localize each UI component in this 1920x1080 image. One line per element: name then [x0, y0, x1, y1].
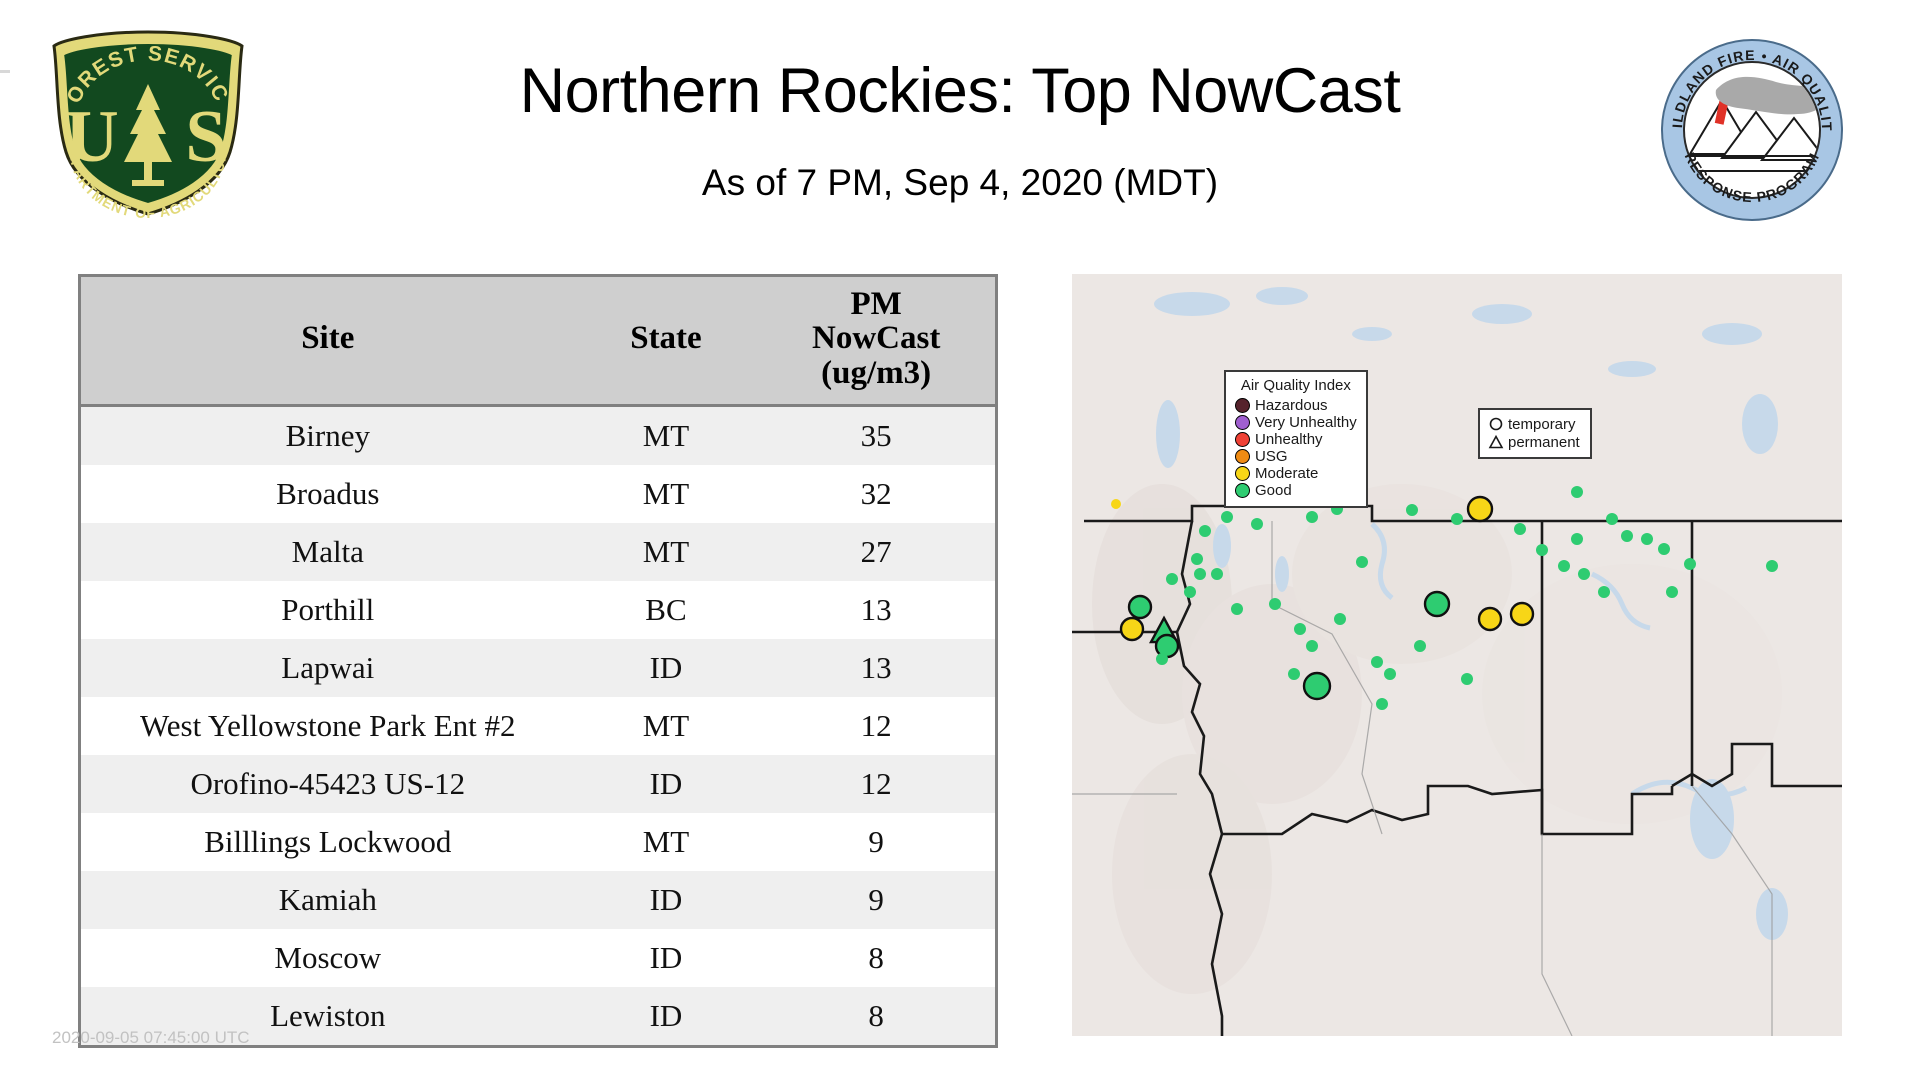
- aqi-swatch-icon: [1235, 466, 1250, 481]
- table-cell-site: Birney: [81, 405, 575, 465]
- map-marker-temporary[interactable]: [1536, 544, 1548, 556]
- column-header-pm-line-2: NowCast: [761, 321, 991, 355]
- table-body: BirneyMT35BroadusMT32MaltaMT27PorthillBC…: [81, 405, 995, 1045]
- station-type-legend: temporary permanent: [1478, 408, 1592, 459]
- map-marker-temporary[interactable]: [1199, 525, 1211, 537]
- aqi-legend-title: Air Quality Index: [1235, 377, 1357, 394]
- map-marker-temporary[interactable]: [1666, 586, 1678, 598]
- table-row[interactable]: KamiahID9: [81, 871, 995, 929]
- map-marker-temporary[interactable]: [1641, 533, 1653, 545]
- map-marker-temporary[interactable]: [1288, 668, 1300, 680]
- table-cell-site: Porthill: [81, 581, 575, 639]
- aqi-legend-label: Unhealthy: [1255, 432, 1323, 447]
- table-row[interactable]: Billlings LockwoodMT9: [81, 813, 995, 871]
- table-cell-state: ID: [575, 871, 758, 929]
- map-marker-temporary[interactable]: [1194, 568, 1206, 580]
- aqi-legend-label: Good: [1255, 483, 1292, 498]
- table-cell-state: MT: [575, 697, 758, 755]
- table-cell-pm-nowcast: 27: [757, 523, 995, 581]
- table-header: Site State PM NowCast (ug/m3): [81, 277, 995, 405]
- map-marker-temporary[interactable]: [1306, 511, 1318, 523]
- station-legend-row-temporary: temporary: [1488, 415, 1580, 433]
- top-nowcast-table: Site State PM NowCast (ug/m3) BirneyMT35…: [81, 277, 995, 1045]
- table-row[interactable]: PorthillBC13: [81, 581, 995, 639]
- table-cell-state: MT: [575, 405, 758, 465]
- table-cell-site: Lapwai: [81, 639, 575, 697]
- map-marker-temporary[interactable]: [1156, 653, 1168, 665]
- map-marker-temporary[interactable]: [1571, 533, 1583, 545]
- map-marker-temporary[interactable]: [1571, 486, 1583, 498]
- map-marker-temporary[interactable]: [1334, 613, 1346, 625]
- column-header-state[interactable]: State: [575, 277, 758, 405]
- map-marker-temporary[interactable]: [1451, 513, 1463, 525]
- table-cell-state: ID: [575, 755, 758, 813]
- station-legend-label-temporary: temporary: [1508, 417, 1576, 432]
- table-cell-state: MT: [575, 465, 758, 523]
- map-marker-temporary[interactable]: [1598, 586, 1610, 598]
- table-cell-site: Kamiah: [81, 871, 575, 929]
- column-header-site[interactable]: Site: [81, 277, 575, 405]
- table-cell-pm-nowcast: 35: [757, 405, 995, 465]
- map-marker-temporary[interactable]: [1306, 640, 1318, 652]
- aqi-legend-row: Hazardous: [1235, 397, 1357, 414]
- table-header-row: Site State PM NowCast (ug/m3): [81, 277, 995, 405]
- aqi-legend-row: Very Unhealthy: [1235, 414, 1357, 431]
- map-marker-temporary[interactable]: [1578, 568, 1590, 580]
- column-header-pm-line-1: PM: [761, 287, 991, 321]
- table-cell-site: Orofino-45423 US-12: [81, 755, 575, 813]
- map-marker-temporary[interactable]: [1684, 558, 1696, 570]
- map-marker-temporary[interactable]: [1384, 668, 1396, 680]
- wfaqrp-program-logo: WILDLAND FIRE • AIR QUALITY RESPONSE PRO…: [1660, 38, 1844, 222]
- footer-timestamp-note: 2020-09-05 07:45:00 UTC: [52, 1028, 250, 1048]
- map-marker-temporary[interactable]: [1221, 511, 1233, 523]
- aqi-legend-row: USG: [1235, 448, 1357, 465]
- map-canvas: [1072, 274, 1842, 1036]
- map-marker-temporary[interactable]: [1166, 573, 1178, 585]
- edge-artifact: [0, 70, 10, 73]
- aqi-swatch-icon: [1235, 432, 1250, 447]
- table-cell-pm-nowcast: 32: [757, 465, 995, 523]
- forest-service-shield-icon: FOREST SERVICE U S DEPARTMENT OF AGRICUL…: [48, 28, 248, 218]
- table-cell-pm-nowcast: 8: [757, 929, 995, 987]
- column-header-pm-line-3: (ug/m3): [761, 356, 991, 390]
- table-cell-state: MT: [575, 523, 758, 581]
- map-marker-temporary[interactable]: [1294, 623, 1306, 635]
- map-marker-temporary[interactable]: [1121, 618, 1143, 640]
- table-cell-state: MT: [575, 813, 758, 871]
- table-cell-state: ID: [575, 929, 758, 987]
- table-row[interactable]: Orofino-45423 US-12ID12: [81, 755, 995, 813]
- table-cell-pm-nowcast: 9: [757, 871, 995, 929]
- map-marker-temporary[interactable]: [1658, 543, 1670, 555]
- aqi-legend-row: Good: [1235, 482, 1357, 499]
- map-marker-temporary[interactable]: [1211, 568, 1223, 580]
- column-header-pm-nowcast[interactable]: PM NowCast (ug/m3): [757, 277, 995, 405]
- table-cell-site: Billlings Lockwood: [81, 813, 575, 871]
- table-row[interactable]: BroadusMT32: [81, 465, 995, 523]
- table-cell-pm-nowcast: 9: [757, 813, 995, 871]
- table-cell-state: BC: [575, 581, 758, 639]
- table-row[interactable]: BirneyMT35: [81, 405, 995, 465]
- permanent-station-triangle-icon: [1488, 434, 1504, 450]
- map-marker-temporary[interactable]: [1766, 560, 1778, 572]
- station-legend-row-permanent: permanent: [1488, 433, 1580, 451]
- table-cell-pm-nowcast: 13: [757, 581, 995, 639]
- map-marker-temporary[interactable]: [1621, 530, 1633, 542]
- table-cell-pm-nowcast: 13: [757, 639, 995, 697]
- map-marker-temporary[interactable]: [1111, 499, 1121, 509]
- page-title: Northern Rockies: Top NowCast: [260, 58, 1660, 124]
- map-marker-temporary[interactable]: [1251, 518, 1263, 530]
- aqi-legend-items: HazardousVery UnhealthyUnhealthyUSGModer…: [1235, 397, 1357, 499]
- temporary-station-circle-icon: [1488, 416, 1504, 432]
- table-row[interactable]: LapwaiID13: [81, 639, 995, 697]
- top-nowcast-table-container: Site State PM NowCast (ug/m3) BirneyMT35…: [78, 274, 998, 1048]
- table-cell-pm-nowcast: 12: [757, 755, 995, 813]
- aqi-swatch-icon: [1235, 415, 1250, 430]
- page-header: FOREST SERVICE U S DEPARTMENT OF AGRICUL…: [0, 0, 1920, 255]
- table-cell-site: Broadus: [81, 465, 575, 523]
- table-row[interactable]: West Yellowstone Park Ent #2MT12: [81, 697, 995, 755]
- table-cell-state: ID: [575, 639, 758, 697]
- aqi-legend-label: Moderate: [1255, 466, 1318, 481]
- air-quality-monitor-map[interactable]: Air Quality Index HazardousVery Unhealth…: [1072, 274, 1842, 1036]
- aqi-legend-label: USG: [1255, 449, 1288, 464]
- map-marker-temporary[interactable]: [1129, 596, 1151, 618]
- aqi-legend-row: Moderate: [1235, 465, 1357, 482]
- map-marker-temporary[interactable]: [1514, 523, 1526, 535]
- map-marker-temporary[interactable]: [1304, 673, 1330, 699]
- map-marker-temporary[interactable]: [1511, 603, 1533, 625]
- aqi-swatch-icon: [1235, 483, 1250, 498]
- map-marker-temporary[interactable]: [1184, 586, 1196, 598]
- map-marker-temporary[interactable]: [1558, 560, 1570, 572]
- map-marker-temporary[interactable]: [1479, 608, 1501, 630]
- map-marker-temporary[interactable]: [1371, 656, 1383, 668]
- table-row[interactable]: MoscowID8: [81, 929, 995, 987]
- wildland-fire-air-quality-circle-icon: WILDLAND FIRE • AIR QUALITY RESPONSE PRO…: [1660, 38, 1844, 222]
- aqi-legend-label: Hazardous: [1255, 398, 1328, 413]
- table-cell-pm-nowcast: 8: [757, 987, 995, 1045]
- map-marker-temporary[interactable]: [1461, 673, 1473, 685]
- usda-forest-service-shield-logo: FOREST SERVICE U S DEPARTMENT OF AGRICUL…: [48, 28, 248, 218]
- aqi-legend-row: Unhealthy: [1235, 431, 1357, 448]
- table-cell-state: ID: [575, 987, 758, 1045]
- map-marker-temporary[interactable]: [1468, 497, 1492, 521]
- map-marker-temporary[interactable]: [1406, 504, 1418, 516]
- aqi-swatch-icon: [1235, 398, 1250, 413]
- map-marker-temporary[interactable]: [1269, 598, 1281, 610]
- map-marker-temporary[interactable]: [1414, 640, 1426, 652]
- table-cell-site: Moscow: [81, 929, 575, 987]
- title-block: Northern Rockies: Top NowCast As of 7 PM…: [260, 58, 1660, 204]
- map-marker-temporary[interactable]: [1231, 603, 1243, 615]
- station-legend-label-permanent: permanent: [1508, 435, 1580, 450]
- table-cell-pm-nowcast: 12: [757, 697, 995, 755]
- map-marker-temporary[interactable]: [1191, 553, 1203, 565]
- map-marker-temporary[interactable]: [1356, 556, 1368, 568]
- air-quality-index-legend: Air Quality Index HazardousVery Unhealth…: [1224, 370, 1368, 508]
- table-cell-site: West Yellowstone Park Ent #2: [81, 697, 575, 755]
- map-marker-temporary[interactable]: [1376, 698, 1388, 710]
- aqi-legend-label: Very Unhealthy: [1255, 415, 1357, 430]
- table-cell-site: Malta: [81, 523, 575, 581]
- page-subtitle-timestamp: As of 7 PM, Sep 4, 2020 (MDT): [260, 162, 1660, 204]
- map-marker-temporary[interactable]: [1425, 592, 1449, 616]
- map-marker-temporary[interactable]: [1606, 513, 1618, 525]
- table-row[interactable]: MaltaMT27: [81, 523, 995, 581]
- aqi-swatch-icon: [1235, 449, 1250, 464]
